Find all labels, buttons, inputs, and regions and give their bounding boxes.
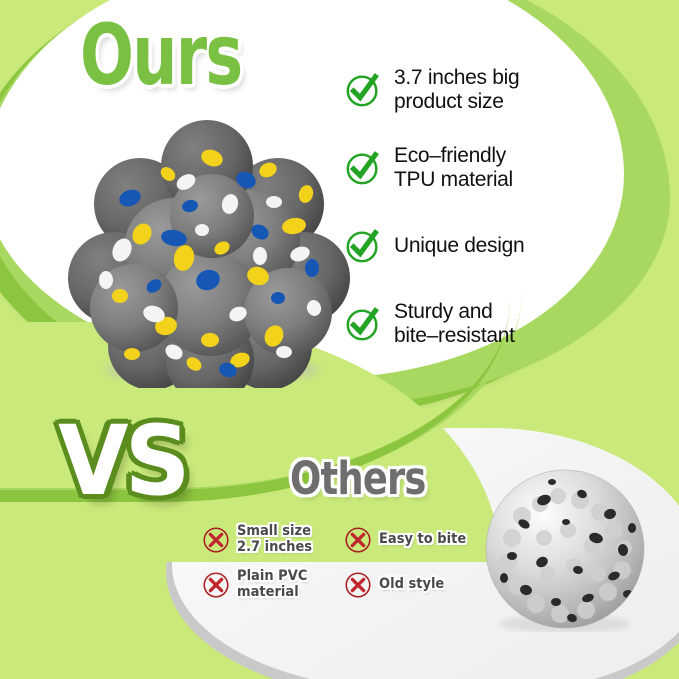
con-item: Old style (344, 569, 492, 600)
ours-feature-list: 3.7 inches big product size Eco–friendly… (344, 62, 594, 374)
check-circle-icon (344, 227, 382, 265)
x-circle-icon (202, 526, 230, 554)
feature-label: 3.7 inches big product size (394, 66, 519, 113)
con-label: Plain PVC material (237, 569, 307, 600)
others-product-ball-image (482, 466, 648, 632)
x-circle-icon (202, 571, 230, 599)
feature-label: Unique design (394, 234, 524, 258)
others-title: Others (290, 452, 426, 505)
vs-label: VS (58, 405, 187, 517)
con-item: Plain PVC material (202, 569, 344, 600)
con-label: Easy to bite (379, 532, 466, 548)
comparison-infographic: Ours (0, 0, 679, 679)
con-item: Small size 2.7 inches (202, 524, 344, 555)
x-circle-icon (344, 526, 372, 554)
feature-item: 3.7 inches big product size (344, 62, 594, 118)
ours-title: Ours (80, 6, 242, 104)
feature-label: Sturdy and bite–resistant (394, 300, 515, 347)
others-cons-list: Small size 2.7 inches Easy to bite Plain… (202, 524, 492, 601)
feature-item: Sturdy and bite–resistant (344, 296, 594, 352)
ours-product-ball-image (62, 108, 352, 388)
x-circle-icon (344, 571, 372, 599)
feature-item: Eco–friendly TPU material (344, 140, 594, 196)
check-circle-icon (344, 305, 382, 343)
check-circle-icon (344, 149, 382, 187)
con-label: Small size 2.7 inches (237, 524, 312, 555)
con-label: Old style (379, 577, 444, 593)
feature-item: Unique design (344, 218, 594, 274)
check-circle-icon (344, 71, 382, 109)
feature-label: Eco–friendly TPU material (394, 144, 513, 191)
con-item: Easy to bite (344, 524, 492, 555)
